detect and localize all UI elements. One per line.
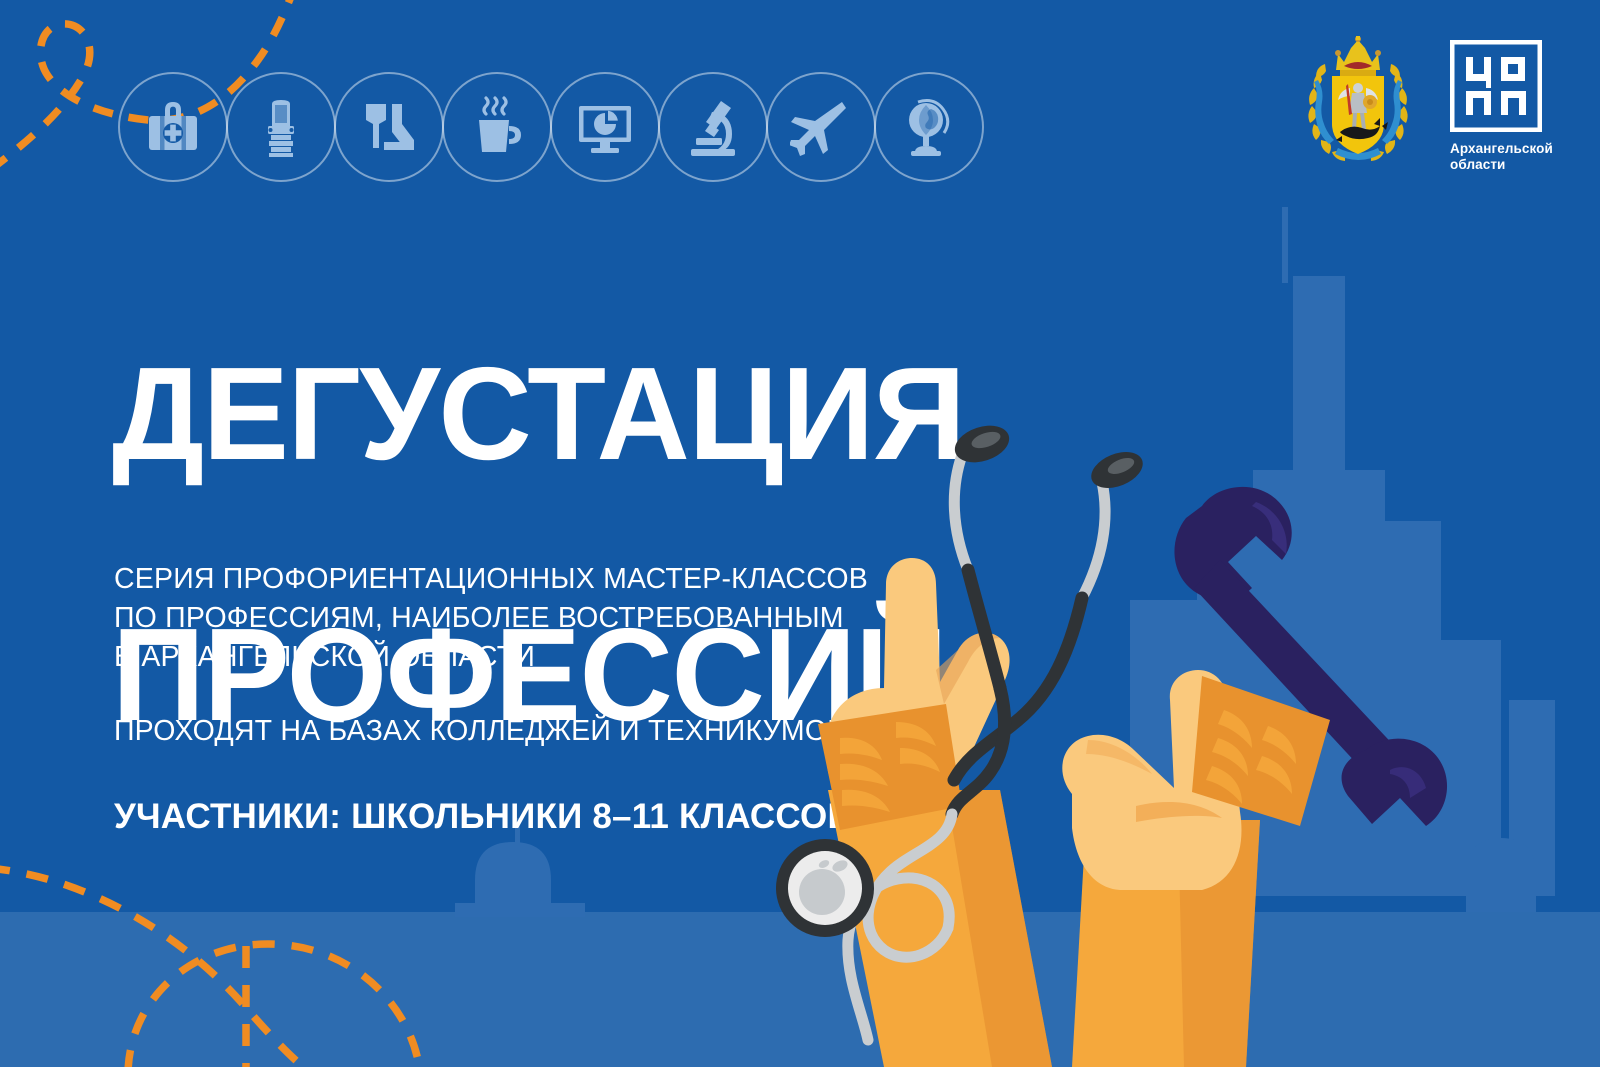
- construction-tools-icon: [358, 96, 420, 158]
- poster-canvas: Архангельской области ДЕГУСТАЦИЯ ПРОФЕСС…: [0, 0, 1600, 1067]
- icon-badge-medical-bag[interactable]: [118, 72, 228, 182]
- medical-bag-icon: [142, 96, 204, 158]
- copp-caption-line2: области: [1450, 157, 1560, 173]
- logo-row: Архангельской области: [1304, 36, 1560, 174]
- dash-path-bottom-circle: [128, 944, 420, 1067]
- copp-logo: Архангельской области: [1450, 36, 1560, 174]
- stethoscope-right-tube: [1082, 482, 1105, 598]
- hands-with-stethoscope-and-wrench: [700, 420, 1600, 1067]
- airplane-icon: [790, 96, 852, 158]
- coffee-cup-icon: [466, 96, 528, 158]
- microscope-icon: [682, 96, 744, 158]
- stethoscope-left-tube: [954, 455, 968, 570]
- icon-badge-airplane[interactable]: [766, 72, 876, 182]
- monitor-chart-icon: [574, 96, 636, 158]
- theodolite-icon: [250, 96, 312, 158]
- icon-badge-globe[interactable]: [874, 72, 984, 182]
- icon-badge-microscope[interactable]: [658, 72, 768, 182]
- right-hand: [1062, 670, 1330, 1067]
- icon-badge-construction-tools[interactable]: [334, 72, 444, 182]
- arkhangelsk-coat-of-arms: [1304, 36, 1412, 168]
- icon-badge-theodolite[interactable]: [226, 72, 336, 182]
- copp-logo-mark: [1450, 40, 1542, 132]
- dash-path-bottom-arc: [0, 868, 310, 1067]
- icon-badge-coffee-cup[interactable]: [442, 72, 552, 182]
- copp-caption: Архангельской области: [1450, 141, 1560, 174]
- copp-caption-line1: Архангельской: [1450, 141, 1560, 157]
- icon-badge-monitor-chart[interactable]: [550, 72, 660, 182]
- profession-icon-strip: [118, 72, 982, 182]
- stethoscope-earpieces: [950, 420, 1148, 495]
- globe-icon: [898, 96, 960, 158]
- stethoscope-chest-piece: [776, 839, 874, 937]
